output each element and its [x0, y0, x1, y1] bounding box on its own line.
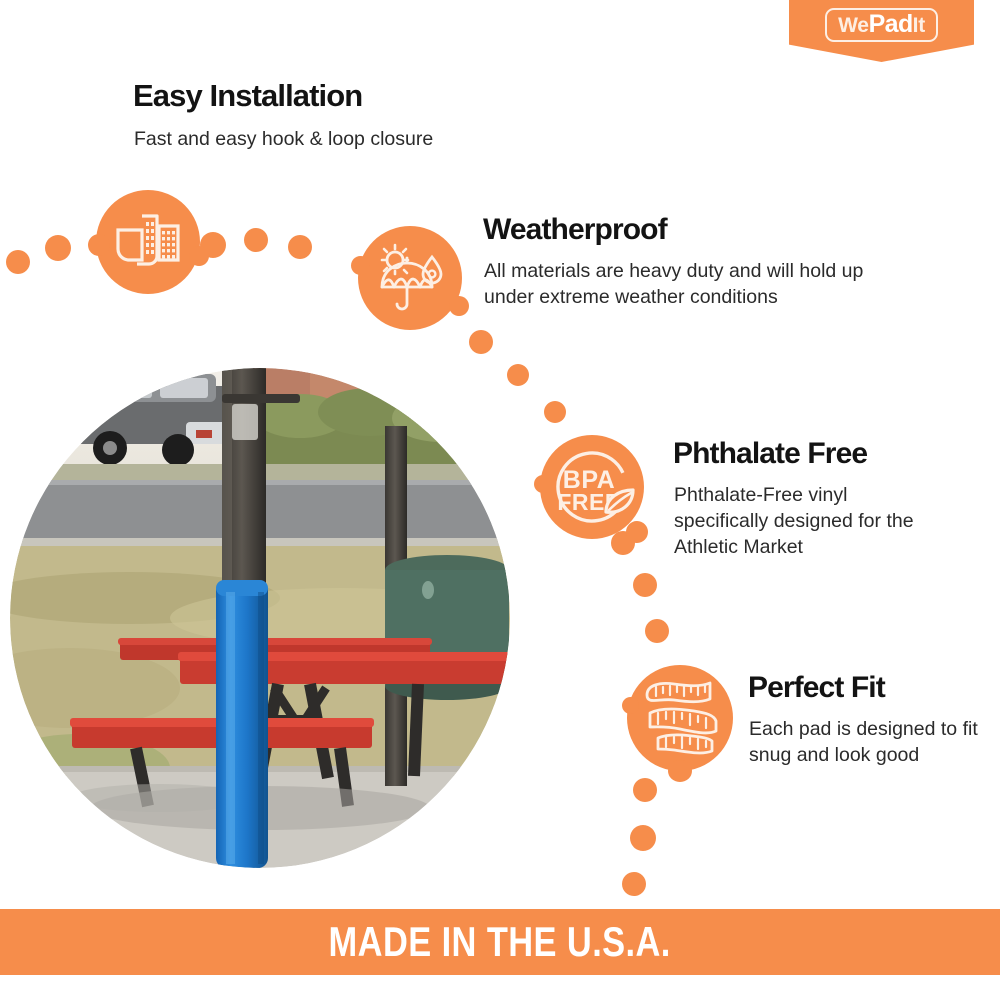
icon-nub [626, 521, 648, 543]
infographic-page: We Pad It Easy Installation Fast and eas… [0, 0, 1000, 987]
icon-nub [622, 697, 639, 714]
logo-text-we: We [838, 15, 869, 36]
made-in-usa-banner: MADE IN THE U.S.A. [0, 909, 1000, 975]
connector-dot [45, 235, 71, 261]
connector-dot [244, 228, 268, 252]
connector-dot [645, 619, 669, 643]
made-in-usa-text: MADE IN THE U.S.A. [329, 918, 671, 966]
connector-dot [507, 364, 529, 386]
logo-frame: We Pad It [825, 8, 938, 42]
icon-nub [534, 475, 552, 493]
icon-nub [88, 234, 110, 256]
connector-dot [6, 250, 30, 274]
feature-title-phthalate-free: Phthalate Free [673, 438, 867, 470]
connector-dot [633, 778, 657, 802]
icon-nub [351, 256, 370, 275]
feature-description-weatherproof: All materials are heavy duty and will ho… [484, 258, 914, 310]
connector-dot [469, 330, 493, 354]
feature-description-phthalate-free: Phthalate-Free vinyl specifically design… [674, 482, 934, 560]
bpa-free-leaf-icon: BPA FREE [540, 435, 644, 539]
feature-title-perfect-fit: Perfect Fit [748, 672, 885, 704]
connector-dot [633, 573, 657, 597]
feature-description-perfect-fit: Each pad is designed to fit snug and loo… [749, 716, 979, 768]
hook-and-loop-icon [96, 190, 200, 294]
connector-dot [630, 825, 656, 851]
icon-nub [668, 760, 692, 782]
connector-dot [288, 235, 312, 259]
umbrella-sun-rain-icon [358, 226, 462, 330]
measuring-tape-icon [627, 665, 733, 771]
product-photo-blue-padded-post [10, 368, 510, 868]
connector-dot [622, 872, 646, 896]
feature-title-easy-installation: Easy Installation [133, 80, 362, 113]
connector-dot [544, 401, 566, 423]
icon-nub [189, 246, 209, 266]
icon-nub [449, 296, 469, 316]
logo-text-it: It [913, 15, 925, 36]
logo-text-pad: Pad [869, 12, 913, 37]
feature-title-weatherproof: Weatherproof [483, 214, 667, 246]
feature-description-easy-installation: Fast and easy hook & loop closure [134, 126, 554, 152]
brand-logo[interactable]: We Pad It [789, 0, 974, 62]
